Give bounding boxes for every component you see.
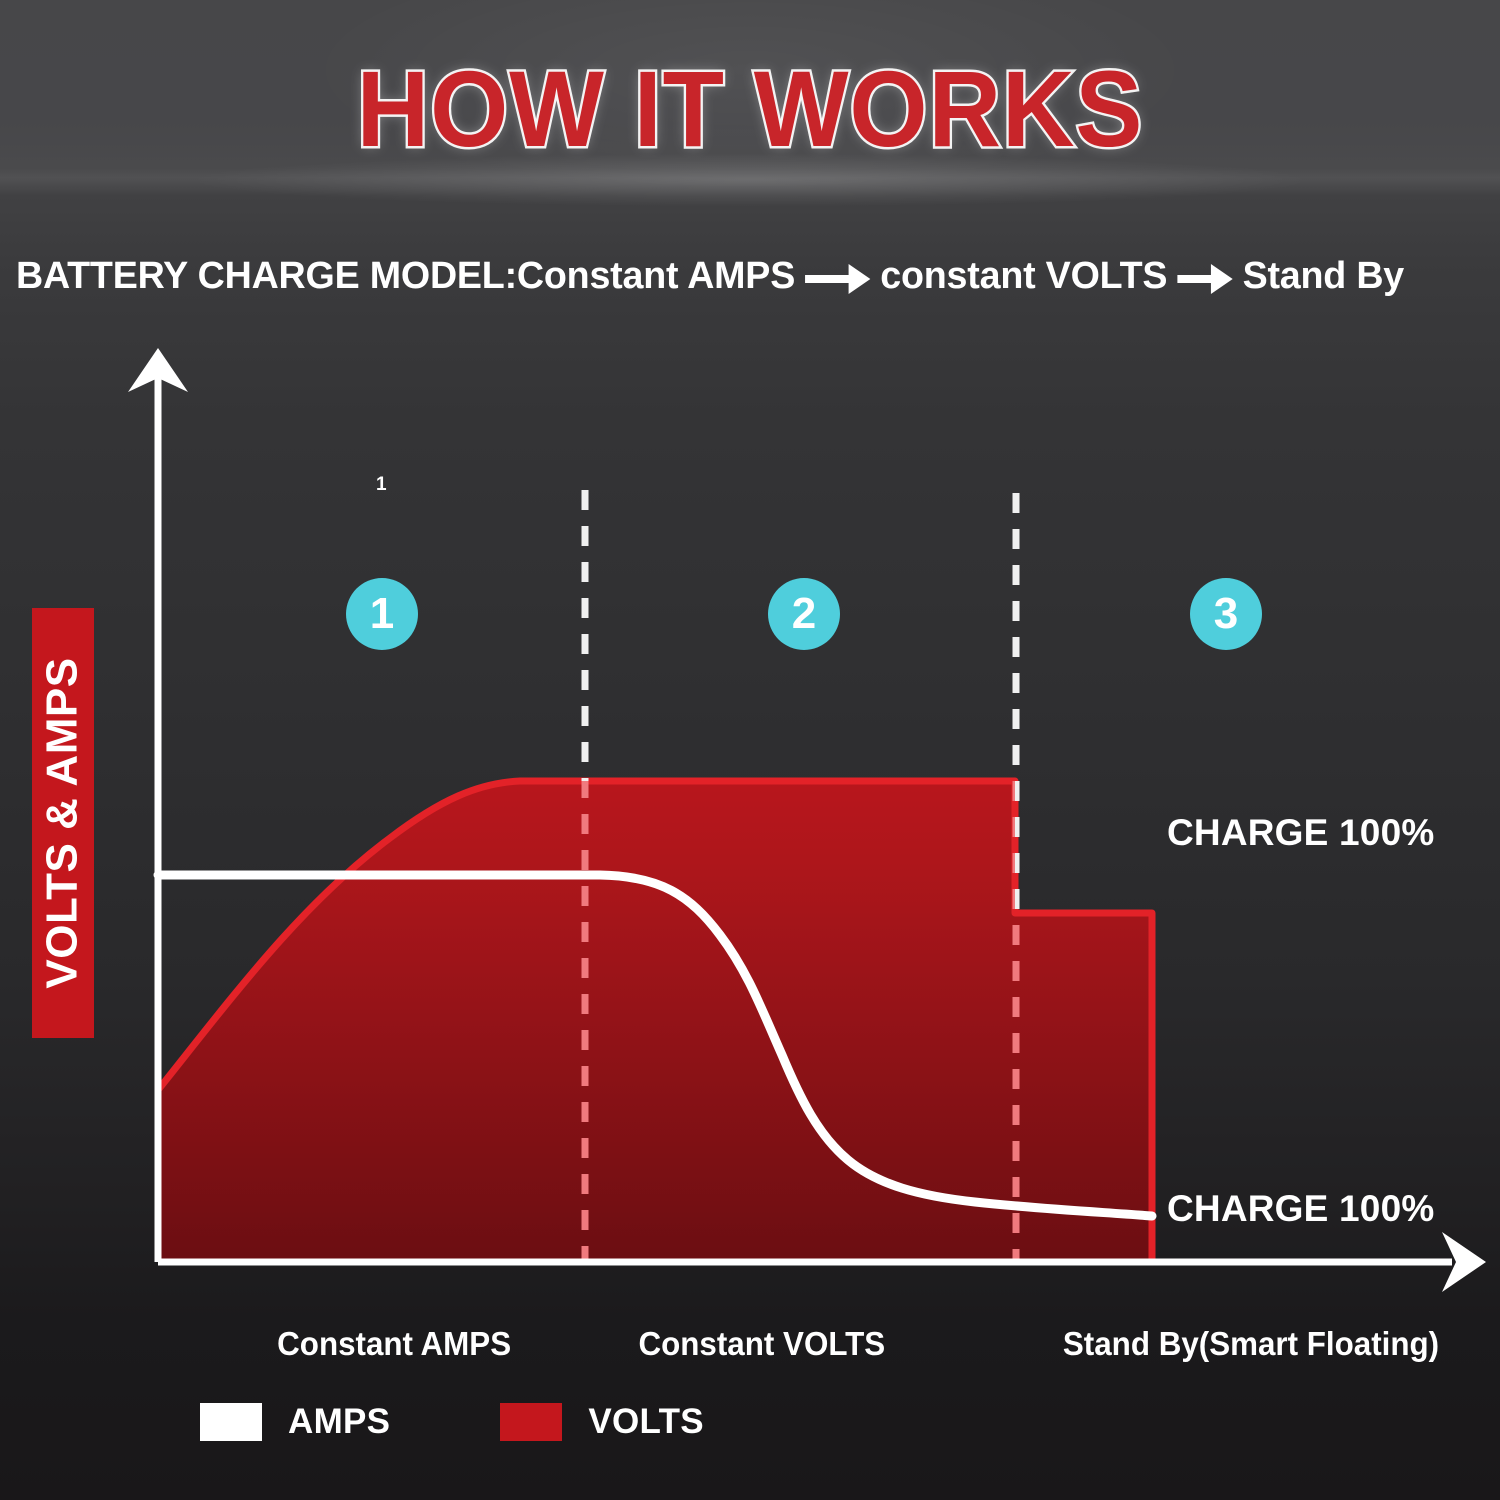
legend-swatch-amps bbox=[200, 1403, 262, 1441]
page-title: HOW IT WORKS bbox=[53, 52, 1448, 165]
subtitle-part-2: constant VOLTS bbox=[880, 255, 1167, 298]
chart-plot bbox=[0, 0, 1500, 1500]
amps-line-series bbox=[158, 875, 1152, 1216]
legend-swatch-volts bbox=[500, 1403, 562, 1441]
right-arrow-icon bbox=[805, 262, 870, 296]
phase-label-constant-amps: Constant AMPS bbox=[277, 1325, 511, 1363]
charge-label-bottom: CHARGE 100% bbox=[1167, 1188, 1434, 1230]
legend-item-amps: AMPS bbox=[200, 1402, 390, 1442]
up-arrow-icon bbox=[128, 348, 188, 392]
right-arrow-icon bbox=[1442, 1232, 1486, 1292]
axis-tick-label: 1 bbox=[376, 474, 387, 496]
volts-area-series bbox=[158, 781, 1152, 1262]
subtitle: BATTERY CHARGE MODEL:Constant AMPS const… bbox=[16, 255, 1477, 298]
y-axis-label-banner: VOLTS & AMPS bbox=[32, 608, 94, 1038]
legend-item-volts: VOLTS bbox=[500, 1402, 704, 1442]
legend-label-volts: VOLTS bbox=[588, 1402, 704, 1442]
chart-legend: AMPS VOLTS bbox=[200, 1402, 704, 1442]
phase-badge-2[interactable]: 2 bbox=[768, 578, 840, 650]
phase-badge-3[interactable]: 3 bbox=[1190, 578, 1262, 650]
phase-label-constant-volts: Constant VOLTS bbox=[638, 1325, 885, 1363]
subtitle-part-3: Stand By bbox=[1243, 255, 1404, 298]
phase-badge-1[interactable]: 1 bbox=[346, 578, 418, 650]
legend-label-amps: AMPS bbox=[288, 1402, 390, 1442]
subtitle-part-1: BATTERY CHARGE MODEL:Constant AMPS bbox=[16, 255, 795, 298]
right-arrow-icon bbox=[1177, 262, 1232, 296]
y-axis-label: VOLTS & AMPS bbox=[38, 657, 88, 988]
charge-label-top: CHARGE 100% bbox=[1167, 812, 1434, 854]
infographic-root: HOW IT WORKS BATTERY CHARGE MODEL:Consta… bbox=[0, 0, 1500, 1500]
phase-label-stand-by: Stand By(Smart Floating) bbox=[1063, 1325, 1439, 1363]
